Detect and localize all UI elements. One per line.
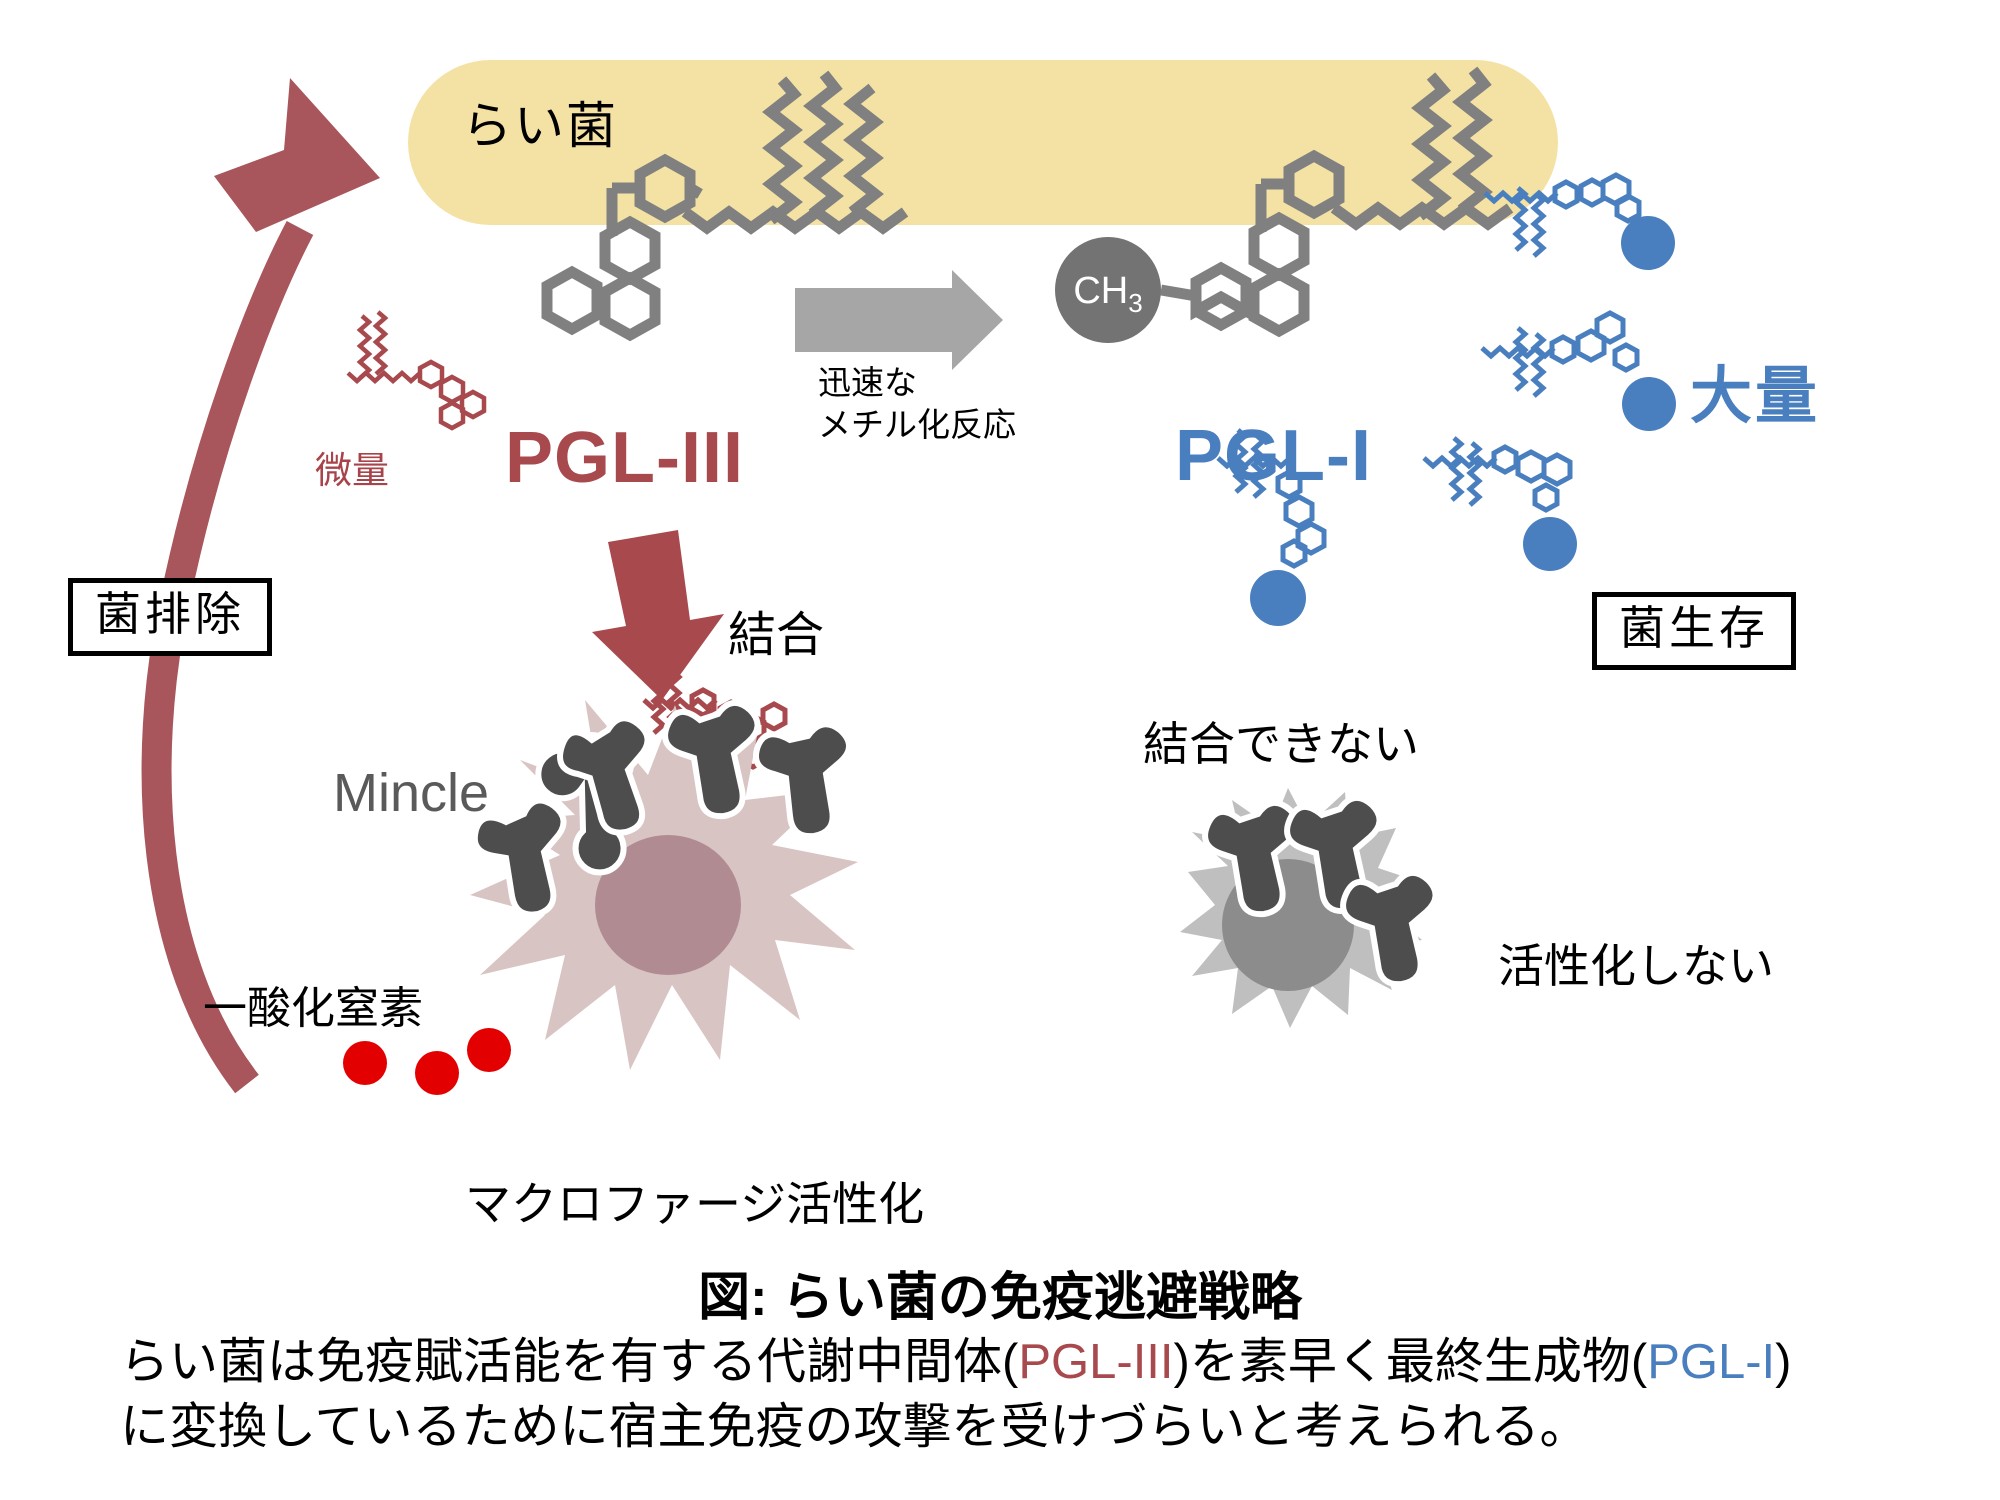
nitric-oxide-dots (343, 1028, 511, 1095)
bacteria-elimination-box: 菌排除 (68, 578, 272, 656)
pgl3-label: PGL-III (505, 417, 744, 499)
inactive-macrophage-receptors (1205, 798, 1435, 984)
inactive-macrophage (1180, 788, 1422, 1028)
caption-line1-part-a: らい菌は免疫賦活能を有する代謝中間体( (120, 1335, 1018, 1389)
caption-line2: に変換しているために宿主免疫の攻撃を受けづらいと考えられる。 (120, 1400, 1589, 1454)
pgl3-free-molecule (348, 312, 484, 428)
methylation-reaction-arrow (795, 270, 1003, 370)
caption-line1-part-b: )を素早く最終生成物( (1174, 1335, 1648, 1389)
bacteria-survival-box: 菌生存 (1592, 592, 1796, 670)
no-activation-label: 活性化しない (1498, 930, 1774, 996)
caption-pgl3-mention: PGL-III (1018, 1335, 1173, 1389)
binding-arrow (592, 530, 724, 700)
trace-amount-label: 微量 (315, 440, 389, 494)
binding-label: 結合 (728, 595, 824, 665)
mincle-receptors (475, 703, 849, 915)
pgl1-free-molecules (1218, 175, 1676, 626)
nitric-oxide-label: 一酸化窒素 (203, 972, 423, 1036)
caption-line1-part-c: ) (1775, 1335, 1791, 1389)
large-amount-label: 大量 (1690, 345, 1820, 435)
svg-text:CH3: CH3 (1073, 270, 1142, 318)
figure-caption: らい菌は免疫賦活能を有する代謝中間体(PGL-III)を素早く最終生成物(PGL… (120, 1330, 1910, 1459)
bacterium-label: らい菌 (462, 86, 618, 158)
cannot-bind-label: 結合できない (1143, 708, 1419, 774)
macrophage-activation-label: マクロファージ活性化 (465, 1168, 924, 1234)
activated-macrophage (470, 700, 858, 1070)
figure-title: 図: らい菌の免疫逃避戦略 (0, 1255, 2000, 1330)
pgl1-label: PGL-I (1175, 415, 1372, 497)
methyl-group-circle: CH3 (1055, 237, 1161, 343)
pgl3-bound-molecule (644, 671, 785, 767)
figure-canvas: らい菌 (0, 0, 2000, 1500)
methylation-label: 迅速な メチル化反応 (818, 362, 1016, 446)
mincle-label: Mincle (333, 762, 489, 824)
caption-pgl1-mention: PGL-I (1647, 1335, 1775, 1389)
